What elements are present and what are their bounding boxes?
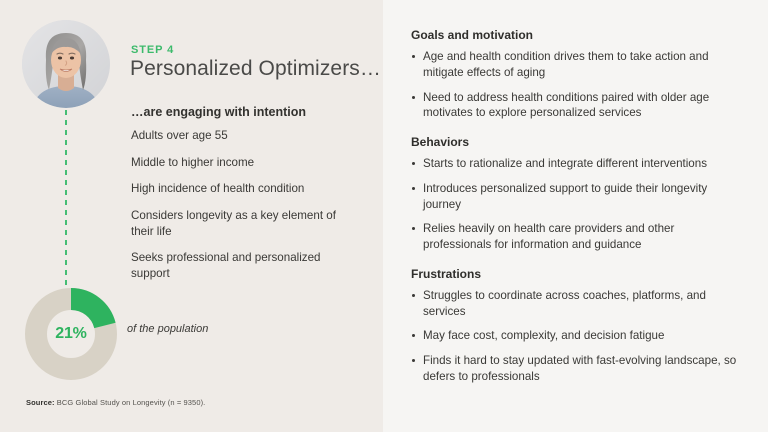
trait-item: Seeks professional and personalized supp… [131, 250, 356, 281]
source-text: BCG Global Study on Longevity (n = 9350)… [55, 398, 206, 407]
trait-item: High incidence of health condition [131, 181, 356, 197]
page-title: Personalized Optimizers… [130, 57, 380, 81]
donut-caption: of the population [127, 323, 208, 335]
bullet-item: Age and health condition drives them to … [411, 49, 741, 81]
source-note: Source: BCG Global Study on Longevity (n… [26, 398, 205, 407]
donut-percent-label: 21% [25, 288, 117, 380]
portrait-photo-icon [22, 20, 110, 108]
insight-section: Goals and motivationAge and health condi… [411, 28, 741, 121]
source-label: Source: [26, 398, 55, 407]
bullet-list: Starts to rationalize and integrate diff… [411, 156, 741, 253]
donut-chart: 21% [25, 288, 117, 380]
bullet-item: Finds it hard to stay updated with fast-… [411, 353, 741, 385]
step-label: STEP 4 [131, 44, 174, 56]
trait-item: Considers longevity as a key element of … [131, 208, 356, 239]
bullet-item: May face cost, complexity, and decision … [411, 328, 741, 344]
section-title: Goals and motivation [411, 28, 741, 42]
subheading: …are engaging with intention [131, 105, 371, 119]
bullet-item: Struggles to coordinate across coaches, … [411, 288, 741, 320]
bullet-list: Age and health condition drives them to … [411, 49, 741, 121]
insight-section: BehaviorsStarts to rationalize and integ… [411, 135, 741, 253]
slide-canvas: STEP 4 Personalized Optimizers… …are eng… [0, 0, 768, 432]
section-title: Behaviors [411, 135, 741, 149]
trait-item: Middle to higher income [131, 155, 356, 171]
avatar [22, 20, 110, 108]
trait-list: Adults over age 55Middle to higher incom… [131, 128, 356, 292]
bullet-item: Need to address health conditions paired… [411, 90, 741, 122]
bullet-item: Relies heavily on health care providers … [411, 221, 741, 253]
insight-section: FrustrationsStruggles to coordinate acro… [411, 267, 741, 385]
section-title: Frustrations [411, 267, 741, 281]
bullet-list: Struggles to coordinate across coaches, … [411, 288, 741, 385]
insights-column: Goals and motivationAge and health condi… [411, 28, 741, 394]
bullet-item: Introduces personalized support to guide… [411, 181, 741, 213]
trait-item: Adults over age 55 [131, 128, 356, 144]
bullet-item: Starts to rationalize and integrate diff… [411, 156, 741, 172]
dashed-connector-line [65, 110, 67, 292]
